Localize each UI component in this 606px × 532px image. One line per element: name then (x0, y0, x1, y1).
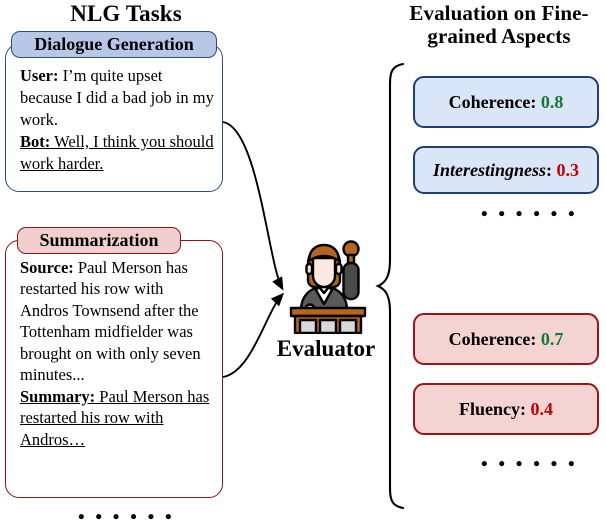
dialogue-user-label: User: (20, 66, 58, 85)
task-card-summarization: Source: Paul Merson has restarted his ro… (5, 240, 223, 498)
arrow-dialogue-to-evaluator (223, 122, 282, 288)
summarization-card-text: Source: Paul Merson has restarted his ro… (20, 257, 214, 450)
aspect-separator: : (546, 160, 557, 181)
aspect-score: 0.4 (531, 399, 554, 420)
aspect-box-fluency-summarization: Fluency: 0.4 (413, 383, 599, 435)
task-badge-summarization: Summarization (17, 227, 181, 254)
aspect-score: 0.3 (557, 160, 580, 181)
summarization-source-label: Source: (20, 258, 74, 277)
dialogue-bot-text: Well, I think you should work harder. (20, 132, 214, 173)
aspect-name: Coherence (449, 329, 531, 350)
aspect-separator: : (520, 399, 531, 420)
dialogue-bot-label: Bot: (20, 132, 50, 151)
aspect-box-coherence-summarization: Coherence: 0.7 (413, 313, 599, 365)
ellipsis-summarization-aspects: • • • • • • (481, 455, 578, 474)
aspect-box-interestingness-dialogue: Interestingness: 0.3 (413, 146, 599, 194)
aspect-name: Interestingness (433, 160, 546, 181)
aspect-box-coherence-dialogue: Coherence: 0.8 (413, 76, 599, 128)
page-title-evaluation-aspects: Evaluation on Fine-grained Aspects (392, 2, 606, 47)
aspect-separator: : (530, 92, 541, 113)
evaluator-label: Evaluator (262, 336, 390, 362)
aspect-name: Coherence (449, 92, 531, 113)
ellipsis-left-tasks: • • • • • • (78, 508, 175, 527)
aspect-separator: : (530, 329, 541, 350)
brace-evaluator-to-aspects (378, 64, 403, 508)
aspect-name: Fluency (459, 399, 520, 420)
page-title-nlg-tasks: NLG Tasks (26, 2, 226, 27)
task-card-dialogue-generation: User: I’m quite upset because I did a ba… (5, 44, 223, 192)
judge-icon (288, 236, 368, 334)
dialogue-card-text: User: I’m quite upset because I did a ba… (20, 65, 214, 175)
task-badge-dialogue-generation: Dialogue Generation (11, 31, 217, 58)
ellipsis-dialogue-aspects: • • • • • • (481, 205, 578, 224)
aspect-score: 0.7 (541, 329, 564, 350)
aspect-score: 0.8 (541, 92, 564, 113)
summarization-summary-label: Summary: (20, 387, 95, 406)
diagram-canvas: NLG Tasks Evaluation on Fine-grained Asp… (0, 0, 606, 532)
